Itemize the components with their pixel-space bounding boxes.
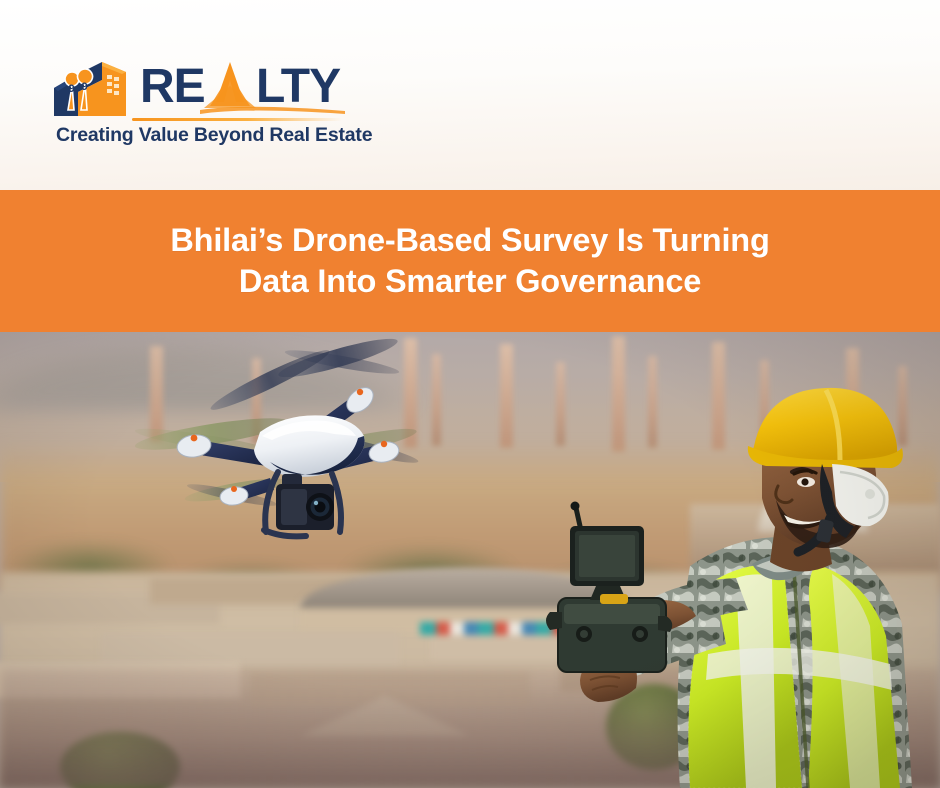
social-post-canvas: 9 9 RE LTY Creating Value Beyond Real Es…	[0, 0, 940, 788]
svg-text:9: 9	[82, 81, 88, 93]
hero-photo	[0, 332, 940, 788]
title-line-1: Bhilai’s Drone-Based Survey Is Turning	[170, 220, 769, 261]
logo-underline	[132, 118, 342, 121]
brand-tagline: Creating Value Beyond Real Estate	[56, 124, 342, 147]
svg-text:RE: RE	[140, 60, 205, 113]
page-title: Bhilai’s Drone-Based Survey Is Turning D…	[170, 220, 769, 302]
photo-vignette	[0, 332, 940, 788]
title-banner: Bhilai’s Drone-Based Survey Is Turning D…	[0, 190, 940, 332]
title-line-2: Data Into Smarter Governance	[170, 261, 769, 302]
wordmark-realty: RE LTY	[140, 56, 345, 118]
header-bar: 9 9 RE LTY Creating Value Beyond Real Es…	[0, 0, 940, 190]
svg-text:9: 9	[69, 83, 75, 95]
building-mark-icon: 9 9	[52, 58, 136, 122]
brand-logo[interactable]: 9 9 RE LTY Creating Value Beyond Real Es…	[52, 58, 342, 154]
svg-text:LTY: LTY	[256, 60, 341, 113]
